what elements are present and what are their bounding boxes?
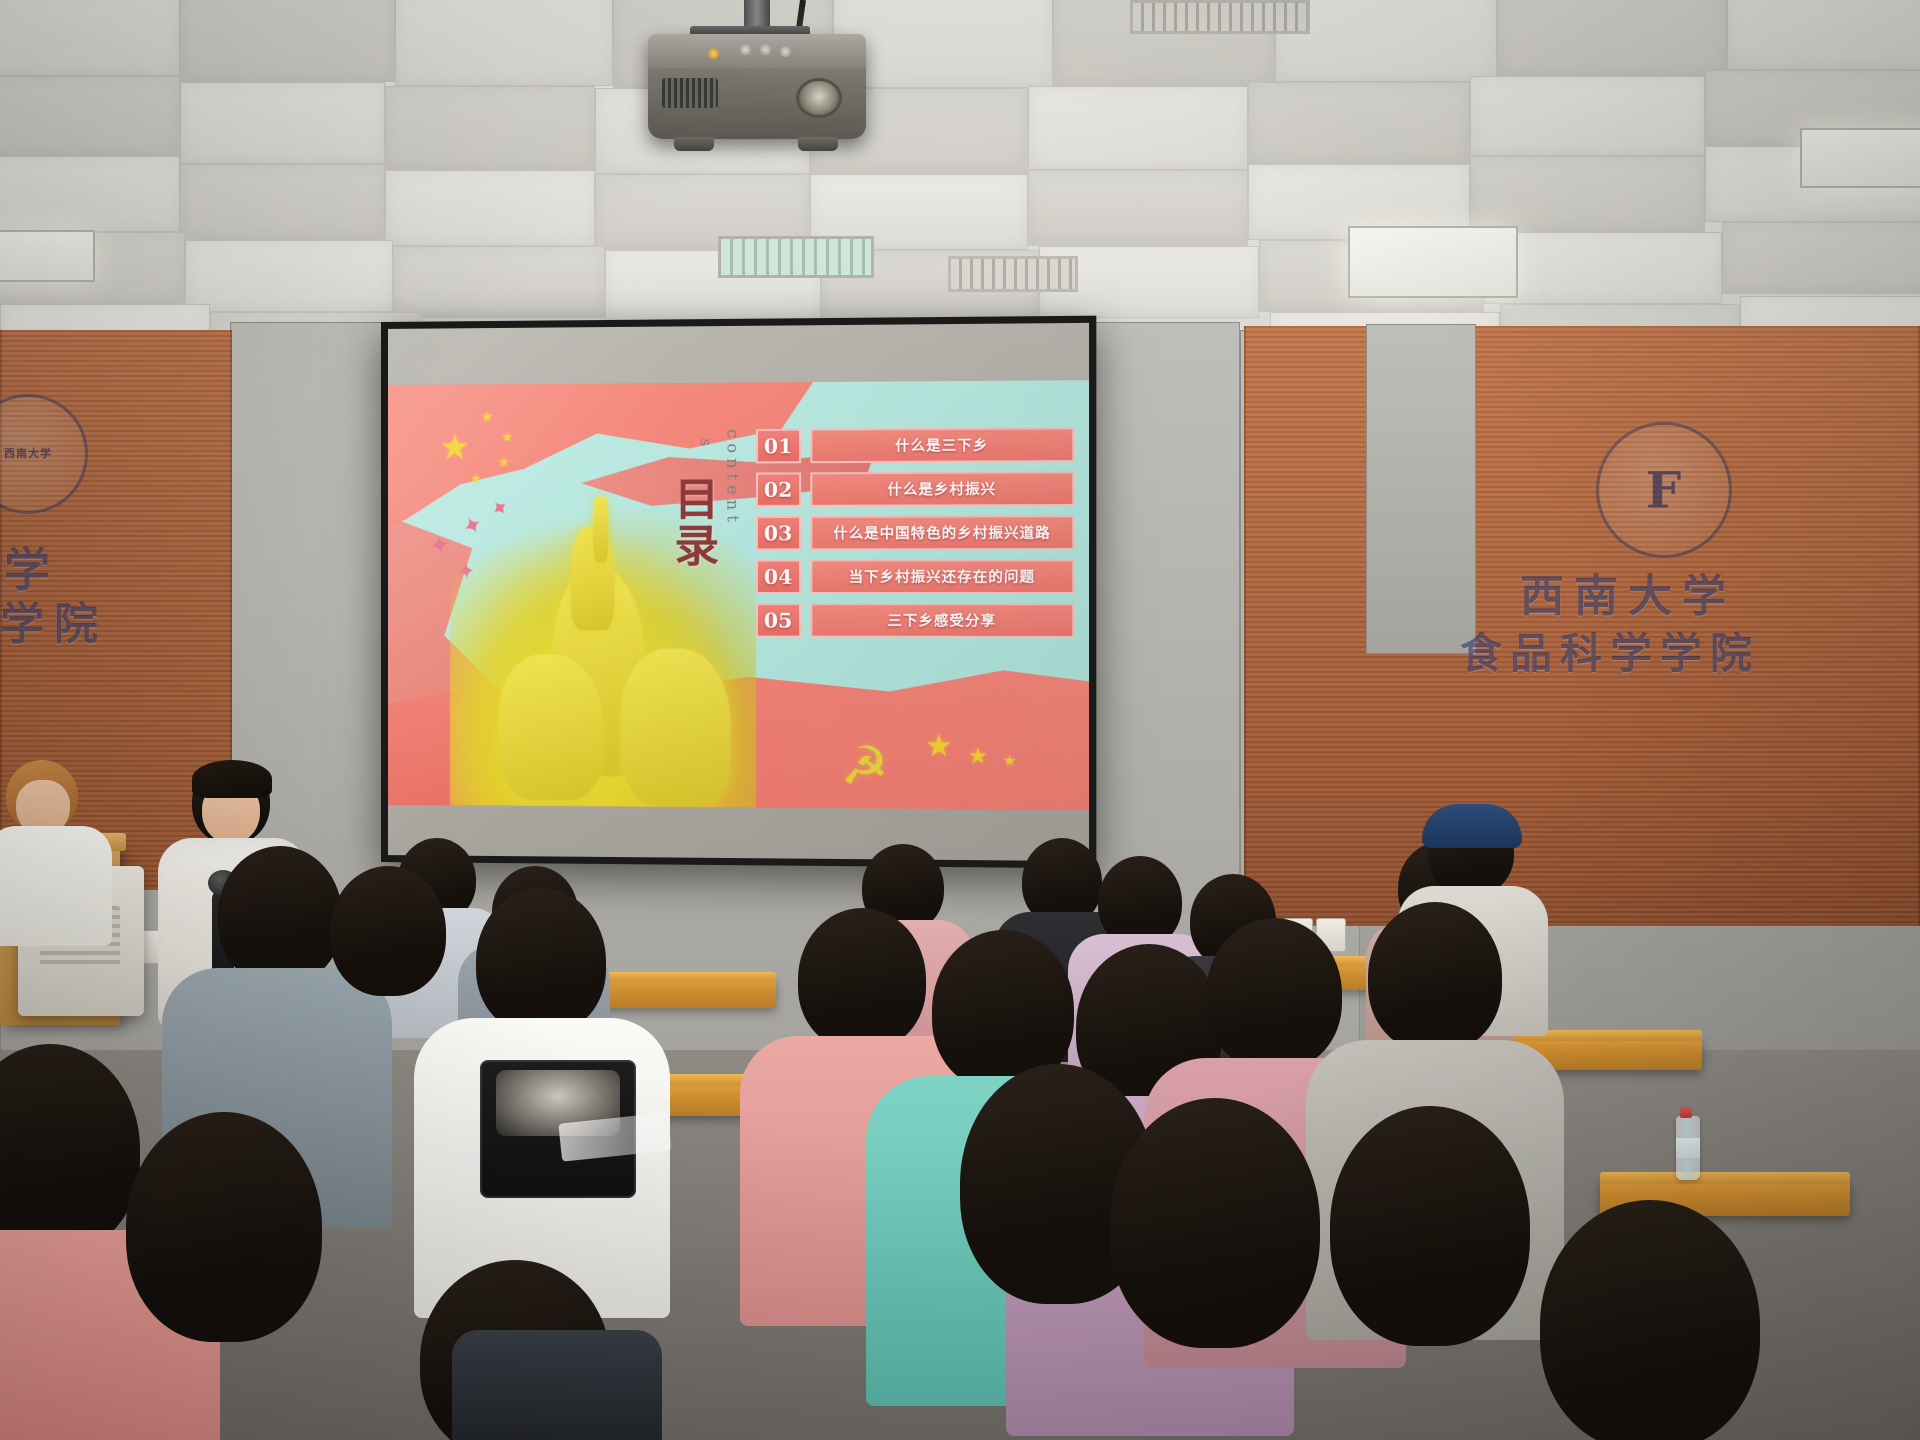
contents-row[interactable]: 05 三下乡感受分享 [756, 603, 1075, 638]
projector-lens [796, 78, 842, 118]
presentation-slide: ★ ★ ★ ★ ★ ★ ★ ★ ✦ ✦ ✦ ✦ [388, 380, 1089, 810]
slide-title-chinese: 目录 [668, 476, 715, 569]
ceiling-light-fixture [1348, 226, 1518, 298]
student-desk-edge [586, 972, 776, 982]
contents-row[interactable]: 03 什么是中国特色的乡村振兴道路 [756, 515, 1075, 550]
right-wall-emblem: F [1596, 422, 1732, 558]
contents-row-number: 01 [756, 429, 801, 464]
flag-star-small-icon: ★ [498, 456, 510, 469]
party-emblem-icon: ☭ [833, 739, 897, 796]
contents-row-label: 什么是中国特色的乡村振兴道路 [810, 515, 1075, 550]
person-head [126, 1112, 322, 1342]
person-head [1206, 918, 1342, 1070]
projector-foot [798, 137, 838, 151]
slide-title-english: content [723, 429, 742, 527]
contents-row-number: 05 [756, 603, 801, 637]
presenter-hair [192, 760, 272, 798]
right-wall-text-2: 食品科学学院 [1460, 620, 1760, 681]
contents-row-number: 04 [756, 560, 801, 594]
left-wall-text-2: 学院 [0, 588, 108, 652]
contents-row-number: 03 [756, 516, 801, 551]
person-head [330, 866, 446, 996]
projector-button[interactable] [740, 44, 751, 55]
ceiling-air-vent [1130, 0, 1310, 34]
flag-star-small-icon: ★ [481, 410, 494, 424]
bottle-cap [1680, 1107, 1692, 1118]
wall-panel [1366, 324, 1476, 654]
slide-title-letter-s: s [697, 438, 715, 446]
contents-row[interactable]: 02 什么是乡村振兴 [756, 471, 1075, 507]
projection-screen-surface: ★ ★ ★ ★ ★ ★ ★ ★ ✦ ✦ ✦ ✦ [388, 323, 1089, 861]
contents-row-label: 当下乡村振兴还存在的问题 [810, 559, 1075, 594]
projection-screen: ★ ★ ★ ★ ★ ★ ★ ★ ✦ ✦ ✦ ✦ [381, 316, 1096, 869]
ceiling-air-vent [718, 236, 874, 278]
flag-star-small-icon: ★ [501, 430, 513, 443]
right-wall-emblem-letter: F [1646, 461, 1683, 520]
water-bottle[interactable] [1676, 1116, 1700, 1180]
person-head [798, 908, 926, 1050]
projector-housing-top [648, 34, 866, 68]
right-wall-text-1: 西南大学 [1520, 560, 1736, 624]
person-torso [0, 826, 112, 946]
projector-vent [662, 78, 718, 108]
projector-foot [674, 137, 714, 151]
ceiling-light-fixture [1800, 128, 1920, 188]
classroom-scene: 西南大学 学 学院 F 西南大学 食品科学学院 ★ ★ ★ [0, 0, 1920, 1440]
ceiling-light-fixture [0, 230, 95, 282]
person-head [476, 888, 606, 1034]
contents-row[interactable]: 04 当下乡村振兴还存在的问题 [756, 559, 1075, 594]
contents-row-label: 什么是乡村振兴 [810, 471, 1075, 507]
contents-row-label: 三下乡感受分享 [810, 603, 1075, 638]
flag-star-large-icon: ★ [439, 431, 470, 465]
projector-button[interactable] [780, 46, 791, 57]
ceiling-air-vent [948, 256, 1078, 292]
backpack [452, 1330, 662, 1440]
projector-indicator-led [708, 48, 719, 59]
student-desk [586, 978, 776, 1008]
slide-star-icon: ★ [968, 745, 988, 768]
flag-star-small-icon: ★ [470, 473, 481, 485]
person-head [1330, 1106, 1530, 1346]
cap [1422, 804, 1522, 848]
contents-row[interactable]: 01 什么是三下乡 [756, 428, 1075, 464]
ceiling-projector [648, 34, 866, 139]
contents-row-label: 什么是三下乡 [810, 428, 1075, 464]
seated-person-left [0, 760, 130, 940]
slide-star-icon: ★ [1003, 754, 1016, 768]
projector-button[interactable] [760, 44, 771, 55]
person-head [1110, 1098, 1320, 1348]
slide-contents-list: 01 什么是三下乡 02 什么是乡村振兴 03 什么是中国特色的乡村振兴道路 0… [756, 428, 1075, 648]
slide-star-icon: ★ [925, 732, 953, 763]
person-head [1368, 902, 1502, 1052]
left-wall-emblem-label: 西南大学 [0, 447, 71, 461]
person-head [218, 846, 342, 984]
person-head [1540, 1200, 1760, 1440]
contents-row-number: 02 [756, 473, 801, 508]
student-desk-edge [1600, 1172, 1850, 1184]
bottle-label [1676, 1138, 1700, 1158]
